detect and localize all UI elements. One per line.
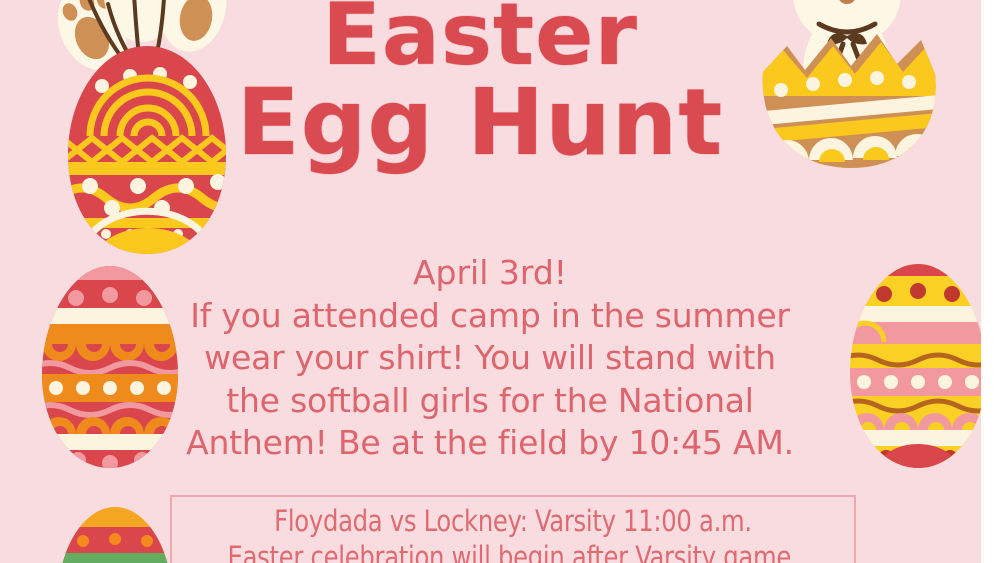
title-line-1: Easter — [170, 0, 790, 75]
page-title: Easter Egg Hunt — [170, 0, 790, 166]
event-body-line-3: the softball girls for the National — [120, 380, 860, 423]
event-body-line-4: Anthem! Be at the field by 10:45 AM. — [120, 422, 860, 465]
game-matchup-line: Floydada vs Lockney: Varsity 11:00 a.m. — [196, 503, 830, 539]
event-details-text: April 3rd! If you attended camp in the s… — [120, 252, 860, 465]
event-body-line-1: If you attended camp in the summer — [120, 295, 860, 338]
event-date-line: April 3rd! — [120, 252, 860, 295]
game-info-box: Floydada vs Lockney: Varsity 11:00 a.m. … — [170, 495, 856, 563]
flyer-artboard: Easter Egg Hunt April 3rd! If you attend… — [0, 0, 981, 563]
text-layer: Easter Egg Hunt April 3rd! If you attend… — [0, 0, 981, 563]
celebration-time-line: Easter celebration will begin after Vars… — [196, 539, 830, 563]
title-line-2: Egg Hunt — [170, 81, 790, 166]
right-white-margin — [981, 0, 1000, 563]
easter-egg-hunt-flyer: Easter Egg Hunt April 3rd! If you attend… — [0, 0, 1000, 563]
event-body-line-2: wear your shirt! You will stand with — [120, 337, 860, 380]
